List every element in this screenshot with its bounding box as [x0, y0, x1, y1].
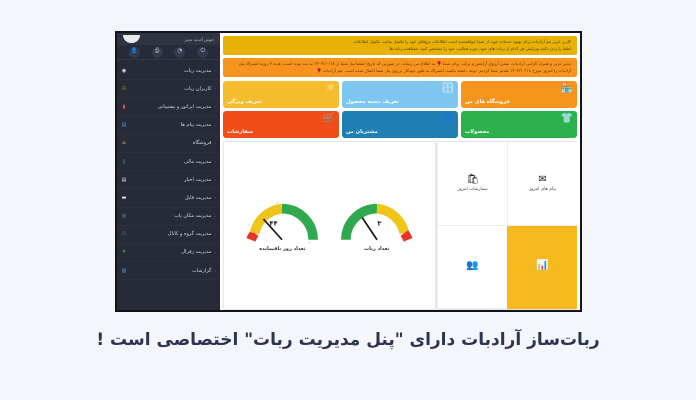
sidebar-item-label: مدیریت مکان یاب	[130, 213, 211, 219]
alert-subscription-gift: مدیر عزیز و همراه گرامی آرادبات، ضمن آرز…	[223, 58, 577, 77]
gauge-title: تعداد روز باقیمانده	[244, 246, 320, 252]
user-icon[interactable]: 👤	[129, 47, 140, 58]
sidebar-item-label: فروشگاه	[130, 140, 211, 146]
sidebar-item-robot-users[interactable]: ‹ کاربران ربات ⚇	[117, 80, 220, 98]
sidebar-item-operator-support[interactable]: ‹ مدیریت اپراتور و پشتیبانی ▮	[117, 98, 220, 116]
tile-label: تعریف ویژگی	[227, 99, 262, 105]
page-caption: ربات‌ساز آرادبات دارای "پنل مدیریت ربات"…	[0, 330, 696, 350]
group-icon: ⚇	[121, 231, 127, 237]
dashboard-content: کاربر عزیز تیم آرادبات برای بهبود خدمات …	[220, 33, 580, 310]
card-label: سفارشات امروز	[458, 187, 488, 192]
sidebar-item-label: مدیریت اخبار	[130, 177, 211, 183]
tile-my-customers[interactable]: 👤 مشتریان من	[342, 111, 458, 138]
tshirt-icon: 👕	[561, 114, 573, 124]
cart-icon: 🛒	[323, 114, 335, 124]
tile-products[interactable]: 👕 محصولات	[461, 111, 577, 138]
power-icon[interactable]: ⏻	[197, 47, 208, 58]
gauge-title: تعداد ربات	[339, 246, 415, 252]
chevron-left-icon: ‹	[214, 250, 216, 255]
brand-logo	[123, 35, 140, 43]
sidebar-item-label: گزارشات	[130, 268, 211, 274]
chevron-left-icon: ‹	[214, 141, 216, 146]
gauge-tick-min: ۰	[341, 241, 342, 244]
alert-profile-warning: کاربر عزیز تیم آرادبات برای بهبود خدمات …	[223, 36, 577, 55]
tile-define-attribute[interactable]: ⚛ تعریف ویژگی	[223, 81, 339, 108]
tile-label: تعریف دسته محصول	[346, 99, 399, 105]
news-icon: ▤	[121, 177, 127, 183]
referral-icon: ⚘	[121, 249, 127, 255]
sidebar-header: خوش آمدید مدیر	[117, 33, 220, 45]
attributes-icon: ⚛	[326, 84, 335, 94]
sidebar-item-label: مدیریت فایل	[130, 195, 211, 201]
file-icon: ▬	[121, 195, 127, 201]
message-bubble-icon: ✉	[538, 175, 546, 185]
sidebar-icon-bar: ⏻ ◔ ⎙ 👤	[117, 45, 220, 60]
order-icon: 🛍	[466, 175, 479, 185]
location-icon: ◎	[121, 213, 127, 219]
sidebar-item-reports[interactable]: ‹ گزارشات ▥	[117, 262, 220, 280]
chevron-left-icon: ‹	[214, 68, 216, 73]
welcome-text: خوش آمدید مدیر	[185, 37, 214, 42]
user-stats-icon: 👥	[466, 261, 478, 271]
gauge-panel: ۰ ۵ ۱۰ ۳ تعداد ربات ۰	[223, 141, 436, 310]
sidebar-item-news[interactable]: ‹ مدیریت اخبار ▤	[117, 171, 220, 189]
sidebar-item-label: مدیریت ربات	[130, 68, 211, 74]
shop-icon: ⌂	[121, 140, 127, 146]
chevron-left-icon: ‹	[214, 177, 216, 182]
card-statistics[interactable]: 📊	[507, 226, 577, 310]
support-icon: ▮	[121, 104, 127, 110]
gauge-tick-min: ۰	[246, 241, 247, 244]
dashboard-lower: ۰ ۵ ۱۰ ۳ تعداد ربات ۰	[223, 141, 577, 310]
reports-icon: ▥	[121, 268, 127, 274]
sidebar-item-referral[interactable]: ‹ مدیریت رفرال ⚘	[117, 244, 220, 262]
dashboard-screenshot: خوش آمدید مدیر ⏻ ◔ ⎙ 👤 ‹ مدیریت ربات ◉ ‹…	[115, 31, 582, 312]
tile-my-shops[interactable]: 🏪 فروشگاه های من	[461, 81, 577, 108]
alert-line: مدیر عزیز و همراه گرامی آرادبات، ضمن آرز…	[229, 61, 571, 74]
save-icon[interactable]: ⎙	[152, 47, 163, 58]
chevron-left-icon: ‹	[214, 123, 216, 128]
sidebar-item-label: مدیریت اپراتور و پشتیبانی	[130, 104, 211, 110]
chevron-left-icon: ‹	[214, 104, 216, 109]
sidebar: خوش آمدید مدیر ⏻ ◔ ⎙ 👤 ‹ مدیریت ربات ◉ ‹…	[117, 33, 220, 310]
tile-orders[interactable]: 🛒 سفارشات	[223, 111, 339, 138]
finance-icon: ▯	[121, 159, 127, 165]
chevron-left-icon: ‹	[214, 214, 216, 219]
gauge-tick-max: ۱۰	[405, 241, 408, 244]
users-icon: ⚇	[121, 86, 127, 92]
gauge-tick-max: ۱۲۰	[308, 241, 312, 244]
gauge-days-remaining: ۰ ۵ ۹۷ ۱۲۰ ۴۴ تعداد روز باقیمانده	[244, 199, 320, 252]
sidebar-item-group-channel[interactable]: ‹ مدیریت گروه و کانال ⚇	[117, 226, 220, 244]
chevron-left-icon: ‹	[214, 159, 216, 164]
tile-label: سفارشات	[227, 129, 253, 135]
tile-label: مشتریان من	[346, 129, 378, 135]
card-label: پیام های امروز	[529, 187, 556, 192]
gauge-tick-low: ۵	[248, 224, 250, 227]
sidebar-item-location-finder[interactable]: ‹ مدیریت مکان یاب ◎	[117, 208, 220, 226]
gauge-robot-count: ۰ ۵ ۱۰ ۳ تعداد ربات	[339, 199, 415, 252]
alert-line: لطفا را زدن دکمه ویرایش هر کدام از ربات …	[229, 46, 571, 53]
card-user-stats[interactable]: 👥	[437, 226, 507, 310]
sidebar-item-label: مدیریت رفرال	[130, 249, 211, 255]
chevron-left-icon: ‹	[214, 268, 216, 273]
category-icon: 🗄	[441, 84, 454, 94]
card-today-orders[interactable]: 🛍 سفارشات امروز	[437, 142, 507, 226]
quick-action-tiles: 🏪 فروشگاه های من 🗄 تعریف دسته محصول ⚛ تع…	[223, 81, 577, 138]
chevron-left-icon: ‹	[214, 86, 216, 91]
chevron-left-icon: ‹	[214, 195, 216, 200]
clock-icon[interactable]: ◔	[174, 47, 185, 58]
tile-label: محصولات	[465, 129, 489, 135]
sidebar-item-messages[interactable]: ‹ مدیریت پیام ها ▤	[117, 117, 220, 135]
tile-label: فروشگاه های من	[465, 99, 510, 105]
sidebar-item-label: مدیریت گروه و کانال	[130, 231, 211, 237]
storefront-icon: 🏪	[561, 84, 573, 94]
sidebar-item-shop[interactable]: ‹ فروشگاه ⌂	[117, 135, 220, 153]
sidebar-item-robot-management[interactable]: ‹ مدیریت ربات ◉	[117, 62, 220, 80]
robot-icon: ◉	[121, 68, 127, 74]
message-icon: ▤	[121, 122, 127, 128]
gauge-value: ۴۴	[270, 220, 278, 228]
gauge-days-remaining-svg: ۰ ۵ ۹۷ ۱۲۰ ۴۴	[245, 199, 319, 245]
gauge-value: ۳	[377, 220, 381, 228]
sidebar-item-files[interactable]: ‹ مدیریت فایل ▬	[117, 189, 220, 207]
tile-product-category[interactable]: 🗄 تعریف دسته محصول	[342, 81, 458, 108]
sidebar-item-label: مدیریت مالی	[130, 159, 211, 165]
customer-icon: 👤	[442, 114, 454, 124]
sidebar-item-label: کاربران ربات	[130, 86, 211, 92]
sidebar-item-label: مدیریت پیام ها	[130, 122, 211, 128]
sidebar-item-finance[interactable]: ‹ مدیریت مالی ▯	[117, 153, 220, 171]
card-today-messages[interactable]: ✉ پیام های امروز	[507, 142, 577, 226]
page-root: خوش آمدید مدیر ⏻ ◔ ⎙ 👤 ‹ مدیریت ربات ◉ ‹…	[0, 0, 696, 400]
chevron-left-icon: ‹	[214, 232, 216, 237]
stat-cards: ✉ پیام های امروز 🛍 سفارشات امروز 📊 👥	[436, 141, 577, 310]
sidebar-menu: ‹ مدیریت ربات ◉ ‹ کاربران ربات ⚇ ‹ مدیری…	[117, 60, 220, 310]
bar-chart-icon: 📊	[536, 261, 548, 271]
gauge-robot-count-svg: ۰ ۵ ۱۰ ۳	[340, 199, 414, 245]
